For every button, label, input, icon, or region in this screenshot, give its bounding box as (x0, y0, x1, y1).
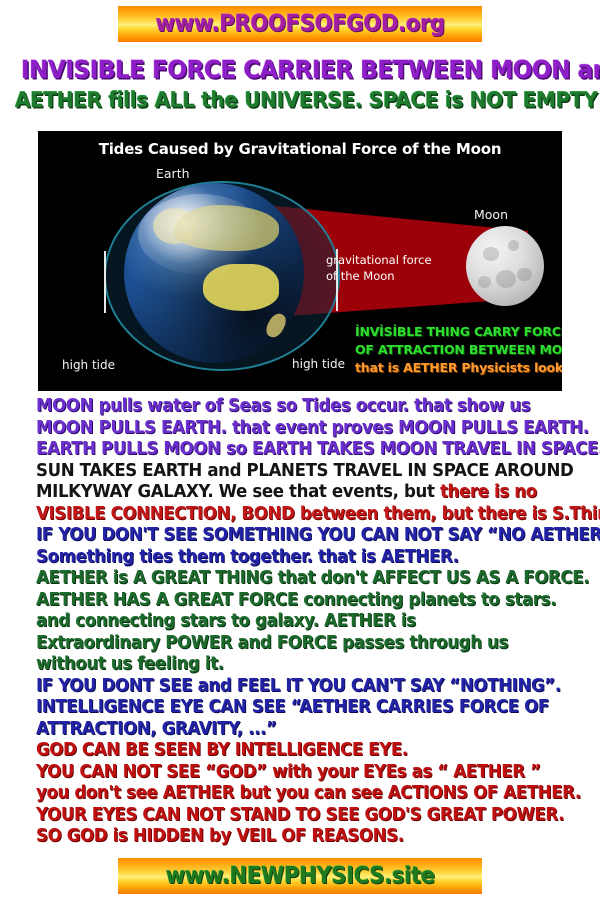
earth-label: Earth (156, 166, 190, 181)
body-text-segment: MOON pulls water of Seas so Tides occur.… (36, 396, 530, 416)
top-url-banner[interactable]: www.PROOFSOFGOD.org (118, 6, 482, 42)
moon-crater (496, 270, 516, 288)
moon-crater (478, 276, 490, 288)
body-line: YOUR EYES CAN NOT STAND TO SEE GOD'S GRE… (36, 805, 574, 827)
body-text-segment: YOU CAN NOT SEE “GOD” with your EYEs as … (36, 762, 541, 782)
body-text-segment: Extraordinary POWER and FORCE passes thr… (36, 633, 508, 653)
high-tide-label-left: high tide (62, 358, 115, 372)
body-line: Something ties them together. that is AE… (36, 547, 574, 569)
body-line: SUN TAKES EARTH and PLANETS TRAVEL IN SP… (36, 461, 574, 483)
body-text-segment: IF YOU DONT SEE and FEEL IT YOU CAN'T SA… (36, 676, 561, 696)
body-line: you don't see AETHER but you can see ACT… (36, 783, 574, 805)
moon-label: Moon (474, 207, 508, 222)
body-text-segment: without us feeling it. (36, 654, 224, 674)
body-line: MILKYWAY GALAXY. We see that events, but… (36, 482, 574, 504)
body-line: AETHER is A GREAT THING that don't AFFEC… (36, 568, 574, 590)
body-line: MOON pulls water of Seas so Tides occur.… (36, 396, 574, 418)
body-text-segment: SO GOD is HIDDEN by VEIL OF REASONS. (36, 826, 404, 846)
body-line: IF YOU DON'T SEE SOMETHING YOU CAN NOT S… (36, 525, 574, 547)
body-text-segment: VISIBLE CONNECTION, BOND between them, b… (36, 504, 600, 524)
tides-diagram: Tides Caused by Gravitational Force of t… (38, 131, 562, 391)
moon-crater (483, 247, 499, 261)
moon-crater (517, 268, 531, 282)
body-text-segment: INTELLIGENCE EYE CAN SEE “AETHER CARRIES… (36, 697, 549, 717)
body-text-segment: there is no (440, 482, 537, 502)
aether-overlay-caption: İNVİSİBLE THING CARRY FORCE OF ATTRACTIO… (355, 323, 562, 376)
body-text-segment: Something ties them together. that is AE… (36, 547, 459, 567)
diagram-title: Tides Caused by Gravitational Force of t… (38, 140, 562, 158)
gravitational-force-label: gravitational force of the Moon (326, 253, 432, 284)
body-text-segment: you don't see AETHER but you can see ACT… (36, 783, 581, 803)
body-line: YOU CAN NOT SEE “GOD” with your EYEs as … (36, 762, 574, 784)
page-title: INVISIBLE FORCE CARRIER BETWEEN MOON and… (21, 55, 579, 84)
body-line: without us feeling it. (36, 654, 574, 676)
body-line: GOD CAN BE SEEN BY INTELLIGENCE EYE. (36, 740, 574, 762)
body-text-segment: YOUR EYES CAN NOT STAND TO SEE GOD'S GRE… (36, 805, 564, 825)
overlay-line-1: İNVİSİBLE THING CARRY FORCE (355, 323, 562, 341)
body-text-segment: and connecting stars to galaxy. AETHER i… (36, 611, 416, 631)
body-text-segment: GOD CAN BE SEEN BY INTELLIGENCE EYE. (36, 740, 408, 760)
body-text-segment: SUN TAKES EARTH and PLANETS TRAVEL IN SP… (36, 461, 573, 481)
bottom-url-text: www.NEWPHYSICS.site (165, 863, 434, 889)
bottom-url-banner[interactable]: www.NEWPHYSICS.site (118, 858, 482, 894)
body-line: and connecting stars to galaxy. AETHER i… (36, 611, 574, 633)
body-text-segment: ATTRACTION, GRAVITY, ...” (36, 719, 277, 739)
body-text-segment: EARTH PULLS MOON so EARTH TAKES MOON TRA… (36, 439, 600, 459)
body-text-segment: MOON PULLS EARTH. that event proves MOON… (36, 418, 589, 438)
body-line: EARTH PULLS MOON so EARTH TAKES MOON TRA… (36, 439, 574, 461)
body-line: VISIBLE CONNECTION, BOND between them, b… (36, 504, 574, 526)
body-line: ATTRACTION, GRAVITY, ...” (36, 719, 574, 741)
body-line: INTELLIGENCE EYE CAN SEE “AETHER CARRIES… (36, 697, 574, 719)
tide-tick-left (104, 251, 106, 313)
body-line: AETHER HAS A GREAT FORCE connecting plan… (36, 590, 574, 612)
body-text-segment: MILKYWAY GALAXY. We see that events, but (36, 482, 440, 502)
page-subtitle: AETHER fills ALL the UNIVERSE. SPACE is … (15, 88, 585, 112)
body-text-segment: IF YOU DON'T SEE SOMETHING YOU CAN NOT S… (36, 525, 600, 545)
overlay-line-3: that is AETHER Physicists looking for.. (355, 359, 562, 377)
body-line: SO GOD is HIDDEN by VEIL OF REASONS. (36, 826, 574, 848)
moon-crater (508, 240, 519, 250)
top-url-text: www.PROOFSOFGOD.org (155, 11, 444, 37)
overlay-line-2: OF ATTRACTION BETWEEN MOON - EARTH (355, 341, 562, 359)
body-line: MOON PULLS EARTH. that event proves MOON… (36, 418, 574, 440)
earth-globe (124, 183, 304, 363)
tide-tick-right (336, 249, 338, 311)
article-body: MOON pulls water of Seas so Tides occur.… (36, 396, 600, 848)
body-line: Extraordinary POWER and FORCE passes thr… (36, 633, 574, 655)
cloud-highlight (138, 194, 264, 275)
force-label-line-1: gravitational force (326, 253, 432, 269)
body-line: IF YOU DONT SEE and FEEL IT YOU CAN'T SA… (36, 676, 574, 698)
high-tide-label-right: high tide (292, 357, 345, 371)
body-text-segment: AETHER HAS A GREAT FORCE connecting plan… (36, 590, 556, 610)
moon-sphere (466, 226, 544, 306)
body-text-segment: AETHER is A GREAT THING that don't AFFEC… (36, 568, 589, 588)
force-label-line-2: of the Moon (326, 269, 432, 285)
